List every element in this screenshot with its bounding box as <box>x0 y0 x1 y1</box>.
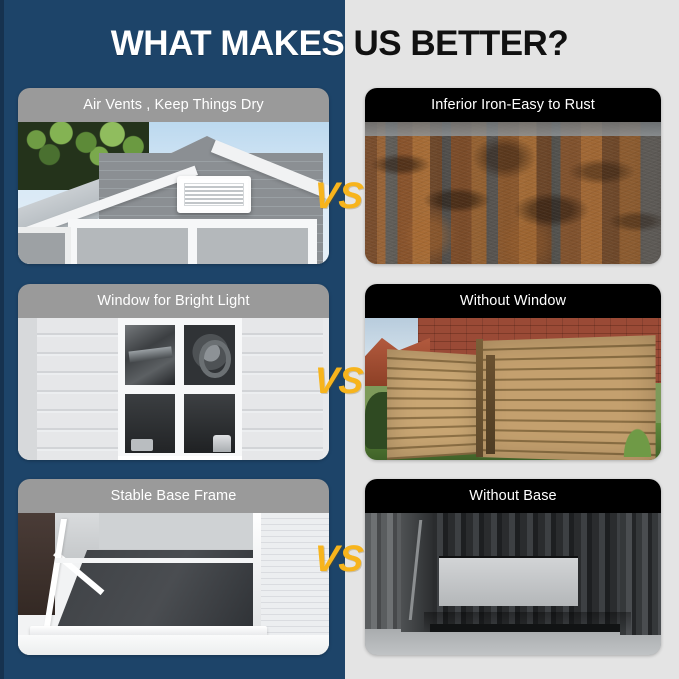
comparison-card-con-3[interactable]: Without Base <box>365 479 661 655</box>
shed-corner-post <box>18 318 39 460</box>
metal-top-edge <box>365 122 661 136</box>
door-trim <box>68 219 317 264</box>
shed-air-vent-illustration <box>18 122 329 264</box>
shed-side-wall <box>261 513 329 644</box>
page-title-highlight: WHAT MAKES <box>111 24 345 63</box>
page-title: WHAT MAKES US BETTER? <box>0 22 679 66</box>
shed-window-illustration <box>18 318 329 460</box>
comparison-card-pro-3[interactable]: Stable Base Frame <box>18 479 329 655</box>
comparison-card-pro-2[interactable]: Window for Bright Light <box>18 284 329 460</box>
card-header-pro-1: Air Vents , Keep Things Dry <box>18 88 329 122</box>
card-header-pro-2: Window for Bright Light <box>18 284 329 318</box>
window-sill <box>118 456 242 460</box>
corner-post <box>476 339 483 457</box>
rusted-iron-illustration <box>365 122 661 264</box>
weeds <box>614 409 661 457</box>
card-image-con-2 <box>365 318 661 460</box>
card-header-con-1: Inferior Iron-Easy to Rust <box>365 88 661 122</box>
card-header-con-2: Without Window <box>365 284 661 318</box>
comparison-card-con-1[interactable]: Inferior Iron-Easy to Rust <box>365 88 661 264</box>
base-post-right <box>253 513 261 641</box>
interior-back-wall-upper <box>99 513 255 549</box>
card-header-pro-3: Stable Base Frame <box>18 479 329 513</box>
window-pane-bottom-left <box>125 394 176 454</box>
base-rail-mid <box>55 558 254 563</box>
interior-light-panel <box>439 556 578 606</box>
window-pane-top-right <box>184 325 235 385</box>
card-image-pro-3 <box>18 513 329 655</box>
window-frame <box>118 318 242 460</box>
comparison-card-pro-1[interactable]: Air Vents , Keep Things Dry <box>18 88 329 264</box>
ground-surface <box>18 635 329 655</box>
card-image-con-1 <box>365 122 661 264</box>
comparison-infographic: WHAT MAKES US BETTER? Air Vents , Keep T… <box>0 0 679 679</box>
siding-right <box>242 318 323 460</box>
air-vent-louver-icon <box>177 176 251 213</box>
page-title-rest: US BETTER? <box>344 24 568 63</box>
window-pane-bottom-right <box>184 394 235 454</box>
shed-without-base-illustration <box>365 513 661 655</box>
window-pane-top-left <box>125 325 176 385</box>
card-image-pro-1 <box>18 122 329 264</box>
slat-door-gap <box>486 355 495 454</box>
card-image-pro-2 <box>18 318 329 460</box>
wooden-slat-shed-illustration <box>365 318 661 460</box>
rust-grain <box>365 122 661 264</box>
corrugated-side-wall-left <box>365 513 401 629</box>
card-image-con-3 <box>365 513 661 655</box>
missing-base-gap <box>430 624 619 632</box>
comparison-card-con-2[interactable]: Without Window <box>365 284 661 460</box>
window-pane-grid <box>125 325 235 453</box>
shed-side-panel <box>18 227 71 264</box>
card-header-con-3: Without Base <box>365 479 661 513</box>
siding-left <box>37 318 118 460</box>
slat-wall-left <box>387 349 478 460</box>
stable-base-frame-illustration <box>18 513 329 655</box>
